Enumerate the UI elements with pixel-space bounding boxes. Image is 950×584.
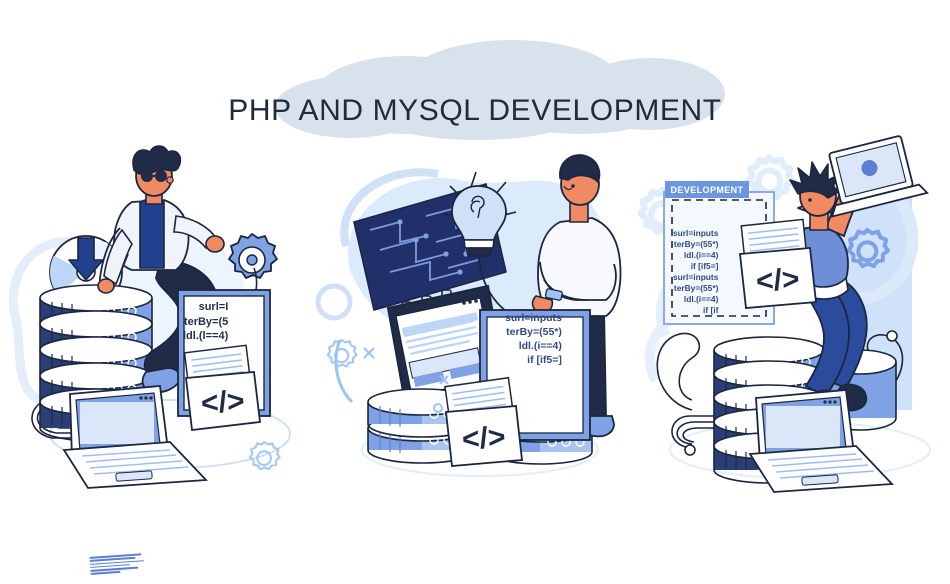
scene-right: </> <box>630 150 950 480</box>
development-badge: DEVELOPMENT <box>665 181 749 198</box>
svg-text:</>: </> <box>755 263 801 299</box>
gear-decoration <box>328 340 357 366</box>
gear-icon <box>229 234 277 278</box>
illustration-stage: PHP AND MYSQL DEVELOPMENT <box>0 0 950 500</box>
svg-text:</>: </> <box>461 421 507 457</box>
page-title: PHP AND MYSQL DEVELOPMENT <box>0 94 950 128</box>
scene-mid: </> <box>330 150 630 480</box>
scene-left: </> <box>10 150 330 480</box>
laptop-screen-microtext <box>89 553 146 577</box>
code-document: </> <box>740 219 816 308</box>
title-area: PHP AND MYSQL DEVELOPMENT <box>0 28 950 138</box>
svg-text:</>: </> <box>200 385 246 421</box>
code-document: </> <box>445 378 522 466</box>
